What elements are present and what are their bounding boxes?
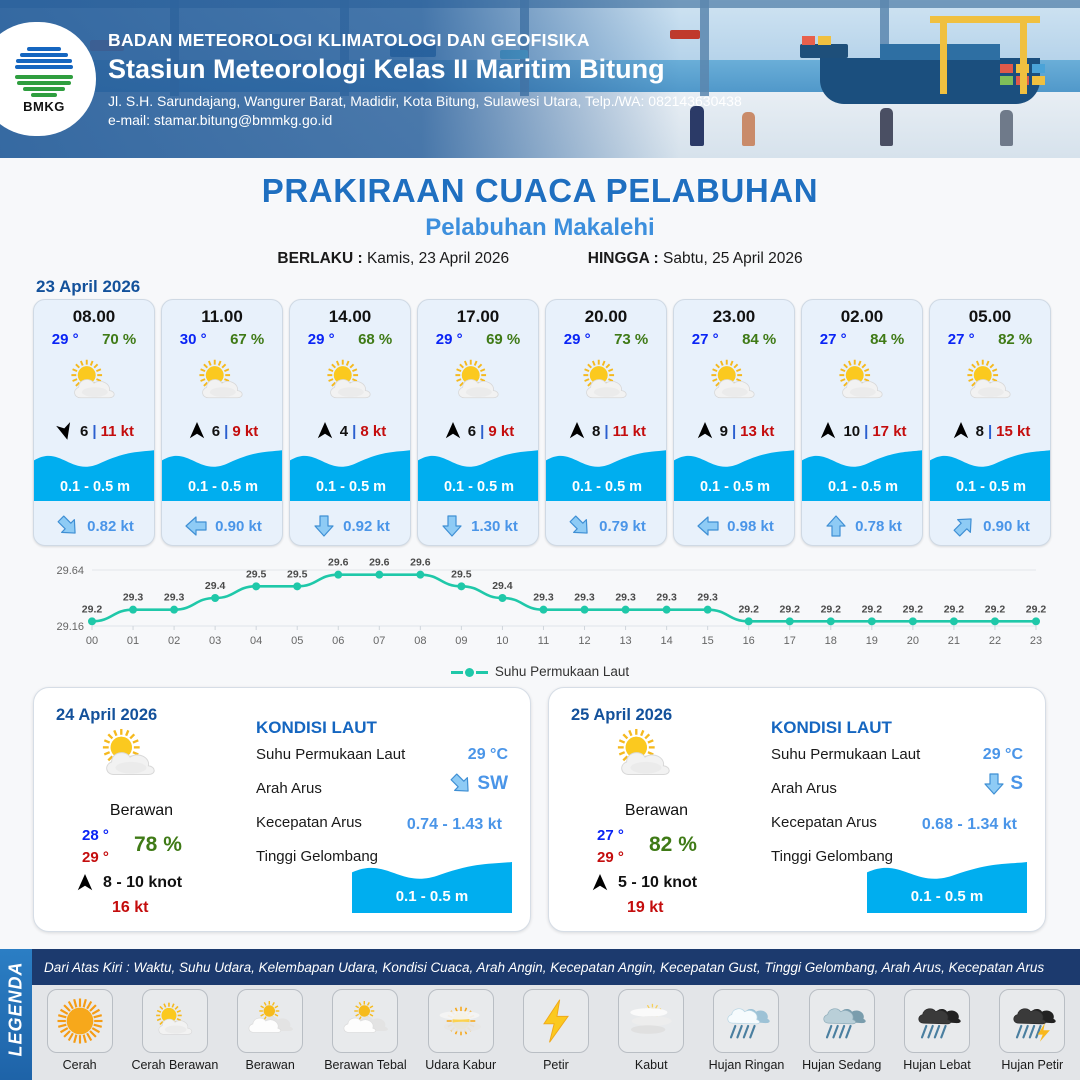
light-rain-icon xyxy=(721,1000,771,1042)
legend-item-label: Hujan Petir xyxy=(1001,1058,1063,1072)
panel-condition: Berawan xyxy=(34,802,249,820)
card-wind-row: 4 | 8 kt xyxy=(290,420,410,442)
forecast-card: 20.00 29 ° 73 % 8 | 11 kt 0.1 - 0.5 m xyxy=(545,299,667,546)
panel-date: 25 April 2026 xyxy=(571,706,672,725)
legend-item-label: Kabut xyxy=(635,1058,668,1072)
page-title: PRAKIRAAN CUACA PELABUHAN xyxy=(0,172,1080,210)
card-current-speed: 0.82 kt xyxy=(87,518,134,535)
legend-item: Cerah xyxy=(34,989,126,1072)
card-separator: | xyxy=(480,423,484,440)
card-wind-row: 8 | 15 kt xyxy=(930,420,1050,442)
forecast-date-label: 23 April 2026 xyxy=(36,277,140,297)
wind-direction-arrow-icon xyxy=(819,420,837,442)
legend-item-label: Udara Kabur xyxy=(425,1058,496,1072)
panel-sst-value: 29 °C xyxy=(468,746,508,764)
svg-text:29.2: 29.2 xyxy=(780,603,801,615)
card-wave-height: 0.1 - 0.5 m xyxy=(674,479,795,495)
svg-text:21: 21 xyxy=(948,635,960,647)
card-wave-height: 0.1 - 0.5 m xyxy=(802,479,923,495)
bmkg-logo-text: BMKG xyxy=(23,99,65,114)
card-current-speed: 0.98 kt xyxy=(727,518,774,535)
card-wind-speed: 10 xyxy=(843,423,860,440)
card-wave-block: 0.1 - 0.5 m xyxy=(162,443,283,501)
card-humidity: 84 % xyxy=(742,331,776,348)
legend-note-bar: Dari Atas Kiri : Waktu, Suhu Udara, Kele… xyxy=(32,949,1080,985)
chart-legend: Suhu Permukaan Laut xyxy=(0,664,1080,679)
wind-direction-arrow-icon xyxy=(444,420,462,442)
card-wind-speed: 8 xyxy=(976,423,984,440)
wind-direction-arrow-icon xyxy=(188,420,206,442)
panel-gust: 19 kt xyxy=(627,899,663,917)
legend-item-label: Cerah xyxy=(63,1058,97,1072)
page-header: BMKG BADAN METEOROLOGI KLIMATOLOGI DAN G… xyxy=(0,0,1080,158)
legend-icon-box xyxy=(523,989,589,1053)
card-wind-speed: 8 xyxy=(592,423,600,440)
station-address: Jl. S.H. Sarundajang, Wangurer Barat, Ma… xyxy=(108,93,742,109)
valid-from-value: Kamis, 23 April 2026 xyxy=(367,250,509,267)
legend-item: Kabut xyxy=(605,989,697,1072)
panel-weather-icon xyxy=(609,728,681,789)
panel-sea-heading: KONDISI LAUT xyxy=(771,718,892,738)
wind-direction-arrow-icon xyxy=(568,420,586,442)
svg-text:00: 00 xyxy=(86,635,98,647)
forecast-card: 08.00 29 ° 70 % 6 | 11 kt 0.1 - 0.5 m xyxy=(33,299,155,546)
sun-icon xyxy=(55,996,105,1046)
card-humidity: 82 % xyxy=(998,331,1032,348)
svg-text:29.2: 29.2 xyxy=(738,603,759,615)
thunderstorm-icon xyxy=(1007,1000,1057,1042)
legend-note: Dari Atas Kiri : Waktu, Suhu Udara, Kele… xyxy=(32,960,1044,975)
panel-current-dir: SW xyxy=(449,772,508,796)
svg-text:19: 19 xyxy=(866,635,878,647)
sun-cloud-icon xyxy=(192,359,252,406)
card-current-row: 0.82 kt xyxy=(34,514,155,538)
card-weather-icon xyxy=(546,350,666,414)
current-direction-arrow-icon xyxy=(440,514,464,538)
svg-text:14: 14 xyxy=(660,635,672,647)
card-gust: 15 kt xyxy=(996,423,1030,440)
lightning-icon xyxy=(531,996,581,1046)
panel-wind-row: 8 - 10 knot xyxy=(74,874,182,892)
wind-direction-arrow-icon xyxy=(952,420,970,442)
card-gust: 17 kt xyxy=(872,423,906,440)
card-gust: 11 kt xyxy=(613,423,646,440)
svg-text:07: 07 xyxy=(373,635,385,647)
legend-icon-box xyxy=(999,989,1065,1053)
card-time: 08.00 xyxy=(34,307,154,327)
legend-item: Udara Kabur xyxy=(415,989,507,1072)
legend-icon-box xyxy=(237,989,303,1053)
svg-text:29.2: 29.2 xyxy=(821,603,842,615)
legend-item-label: Hujan Sedang xyxy=(802,1058,881,1072)
card-current-row: 0.90 kt xyxy=(162,514,283,538)
chart-legend-label: Suhu Permukaan Laut xyxy=(495,664,629,679)
panel-temp-max: 29 ° xyxy=(82,849,109,866)
card-wave-block: 0.1 - 0.5 m xyxy=(546,443,667,501)
legend-items: Cerah Cerah Berawan Berawan Berawan Teba… xyxy=(32,985,1080,1080)
panel-label-current-speed: Kecepatan Arus xyxy=(256,814,362,831)
card-temperature: 29 ° xyxy=(308,331,335,348)
legend-item: Berawan Tebal xyxy=(319,989,411,1072)
panel-current-dir-text: S xyxy=(1010,773,1023,795)
forecast-card-row: 08.00 29 ° 70 % 6 | 11 kt 0.1 - 0.5 m xyxy=(33,299,1051,546)
panel-wave-block: 0.1 - 0.5 m xyxy=(867,855,1027,913)
panel-sst-value: 29 °C xyxy=(983,746,1023,764)
current-direction-arrow-icon xyxy=(563,509,597,543)
card-weather-icon xyxy=(418,350,538,414)
svg-text:29.3: 29.3 xyxy=(656,592,677,604)
card-gust: 9 kt xyxy=(232,423,258,440)
card-gust: 9 kt xyxy=(488,423,514,440)
svg-text:29.2: 29.2 xyxy=(82,603,103,615)
card-temperature: 27 ° xyxy=(820,331,847,348)
svg-text:29.3: 29.3 xyxy=(574,592,595,604)
svg-text:29.5: 29.5 xyxy=(451,568,472,580)
panel-wind: 8 - 10 knot xyxy=(103,874,182,892)
panel-temp-min: 28 ° xyxy=(82,827,109,844)
svg-text:22: 22 xyxy=(989,635,1001,647)
card-time: 20.00 xyxy=(546,307,666,327)
legend-marker-icon xyxy=(465,668,474,677)
panel-humidity: 82 % xyxy=(649,833,697,857)
card-wave-height: 0.1 - 0.5 m xyxy=(34,479,155,495)
sun-cloud-icon xyxy=(94,728,166,784)
legend-icon-box xyxy=(713,989,779,1053)
validity-row: BERLAKU : Kamis, 23 April 2026 HINGGA : … xyxy=(0,250,1080,268)
panel-weather-icon xyxy=(94,728,166,789)
card-current-speed: 1.30 kt xyxy=(471,518,518,535)
day-panel: 25 April 2026 Berawan 27 ° 29 ° 82 % 5 -… xyxy=(548,687,1046,932)
panel-humidity: 78 % xyxy=(134,833,182,857)
card-time: 17.00 xyxy=(418,307,538,327)
svg-text:23: 23 xyxy=(1030,635,1042,647)
sun-cloud-icon xyxy=(150,1002,200,1041)
card-separator: | xyxy=(352,423,356,440)
current-direction-arrow-icon xyxy=(444,767,478,801)
legend-icon-box xyxy=(47,989,113,1053)
sun-cloud-icon xyxy=(609,728,681,784)
page-subtitle: Pelabuhan Makalehi xyxy=(0,214,1080,242)
svg-text:29.4: 29.4 xyxy=(492,580,513,592)
panel-label-current-dir: Arah Arus xyxy=(256,780,322,797)
svg-text:08: 08 xyxy=(414,635,426,647)
panel-current-dir-text: SW xyxy=(477,773,508,795)
panel-label-current-speed: Kecepatan Arus xyxy=(771,814,877,831)
card-separator: | xyxy=(92,423,96,440)
forecast-card: 17.00 29 ° 69 % 6 | 9 kt 0.1 - 0.5 m 1 xyxy=(417,299,539,546)
card-current-row: 0.78 kt xyxy=(802,514,923,538)
legend-icon-box xyxy=(618,989,684,1053)
forecast-card: 05.00 27 ° 82 % 8 | 15 kt 0.1 - 0.5 m xyxy=(929,299,1051,546)
legend-item: Cerah Berawan xyxy=(129,989,221,1072)
forecast-card: 02.00 27 ° 84 % 10 | 17 kt 0.1 - 0.5 m xyxy=(801,299,923,546)
svg-text:29.5: 29.5 xyxy=(246,568,267,580)
card-current-row: 0.92 kt xyxy=(290,514,411,538)
card-current-speed: 0.92 kt xyxy=(343,518,390,535)
legend-side-label: LEGENDA xyxy=(6,963,27,1057)
current-direction-arrow-icon xyxy=(824,514,848,538)
wind-direction-arrow-icon xyxy=(53,418,76,444)
svg-text:29.3: 29.3 xyxy=(615,592,636,604)
panel-current-speed: 0.74 - 1.43 kt xyxy=(407,816,502,834)
current-direction-arrow-icon xyxy=(696,514,720,538)
legend-item: Berawan xyxy=(224,989,316,1072)
bmkg-logo-mark xyxy=(14,45,74,97)
svg-text:01: 01 xyxy=(127,635,139,647)
card-wave-height: 0.1 - 0.5 m xyxy=(290,479,411,495)
current-direction-arrow-icon xyxy=(312,514,336,538)
svg-text:04: 04 xyxy=(250,635,262,647)
forecast-card: 11.00 30 ° 67 % 6 | 9 kt 0.1 - 0.5 m 0 xyxy=(161,299,283,546)
card-wind-speed: 6 xyxy=(468,423,476,440)
card-wind-row: 8 | 11 kt xyxy=(546,420,666,442)
card-temperature: 29 ° xyxy=(52,331,79,348)
panel-wind-row: 5 - 10 knot xyxy=(589,874,697,892)
panel-date: 24 April 2026 xyxy=(56,706,157,725)
card-wave-height: 0.1 - 0.5 m xyxy=(930,479,1051,495)
svg-text:09: 09 xyxy=(455,635,467,647)
legend-item: Hujan Ringan xyxy=(700,989,792,1072)
card-gust: 13 kt xyxy=(740,423,774,440)
current-direction-arrow-icon xyxy=(947,509,981,543)
card-weather-icon xyxy=(290,350,410,414)
panel-sea-heading: KONDISI LAUT xyxy=(256,718,377,738)
svg-text:29.3: 29.3 xyxy=(123,592,144,604)
card-humidity: 68 % xyxy=(358,331,392,348)
card-humidity: 73 % xyxy=(614,331,648,348)
panel-current-dir: S xyxy=(982,772,1023,796)
svg-text:29.4: 29.4 xyxy=(205,580,226,592)
card-wave-height: 0.1 - 0.5 m xyxy=(162,479,283,495)
card-current-row: 0.79 kt xyxy=(546,514,667,538)
card-temperature: 29 ° xyxy=(436,331,463,348)
svg-text:29.3: 29.3 xyxy=(697,592,718,604)
svg-text:29.6: 29.6 xyxy=(328,557,349,569)
panel-label-sst: Suhu Permukaan Laut xyxy=(771,746,920,763)
valid-until-label: HINGGA : xyxy=(588,250,659,267)
svg-text:20: 20 xyxy=(907,635,919,647)
svg-text:29.5: 29.5 xyxy=(287,568,308,580)
sun-cloud-icon xyxy=(320,359,380,406)
card-humidity: 67 % xyxy=(230,331,264,348)
panel-wind: 5 - 10 knot xyxy=(618,874,697,892)
card-current-speed: 0.90 kt xyxy=(215,518,262,535)
legend-item: Hujan Lebat xyxy=(891,989,983,1072)
sun-cloud-icon xyxy=(832,359,892,406)
card-time: 14.00 xyxy=(290,307,410,327)
card-time: 23.00 xyxy=(674,307,794,327)
svg-text:29.2: 29.2 xyxy=(1026,603,1047,615)
legend-icon-box xyxy=(809,989,875,1053)
panel-wave-height: 0.1 - 0.5 m xyxy=(352,888,512,905)
card-weather-icon xyxy=(930,350,1050,414)
panel-gust: 16 kt xyxy=(112,899,148,917)
legend-icon-box xyxy=(904,989,970,1053)
fog-icon xyxy=(626,1001,676,1041)
card-wind-speed: 6 xyxy=(80,423,88,440)
panel-label-sst: Suhu Permukaan Laut xyxy=(256,746,405,763)
legend-icon-box xyxy=(428,989,494,1053)
card-current-row: 1.30 kt xyxy=(418,514,539,538)
card-current-row: 0.90 kt xyxy=(930,514,1051,538)
wind-direction-arrow-icon xyxy=(316,420,334,442)
svg-text:17: 17 xyxy=(784,635,796,647)
clouds-icon xyxy=(245,1001,295,1041)
card-temperature: 30 ° xyxy=(180,331,207,348)
panel-condition: Berawan xyxy=(549,802,764,820)
card-weather-icon xyxy=(674,350,794,414)
card-wave-block: 0.1 - 0.5 m xyxy=(802,443,923,501)
forecast-card: 23.00 27 ° 84 % 9 | 13 kt 0.1 - 0.5 m xyxy=(673,299,795,546)
card-separator: | xyxy=(224,423,228,440)
card-current-row: 0.98 kt xyxy=(674,514,795,538)
card-wave-block: 0.1 - 0.5 m xyxy=(290,443,411,501)
legend-item: Hujan Sedang xyxy=(796,989,888,1072)
card-wind-speed: 9 xyxy=(720,423,728,440)
legend-item: Hujan Petir xyxy=(986,989,1078,1072)
card-separator: | xyxy=(864,423,868,440)
card-wind-row: 6 | 11 kt xyxy=(34,420,154,442)
card-time: 02.00 xyxy=(802,307,922,327)
current-direction-arrow-icon xyxy=(184,514,208,538)
svg-text:15: 15 xyxy=(702,635,714,647)
haze-icon xyxy=(436,1001,486,1041)
day-panel: 24 April 2026 Berawan 28 ° 29 ° 78 % 8 -… xyxy=(33,687,531,932)
card-weather-icon xyxy=(162,350,282,414)
card-gust: 8 kt xyxy=(360,423,386,440)
card-wind-row: 6 | 9 kt xyxy=(418,420,538,442)
panel-wave-block: 0.1 - 0.5 m xyxy=(352,855,512,913)
card-weather-icon xyxy=(802,350,922,414)
card-wind-row: 9 | 13 kt xyxy=(674,420,794,442)
current-direction-arrow-icon xyxy=(982,772,1006,796)
card-humidity: 70 % xyxy=(102,331,136,348)
legend-item-label: Hujan Ringan xyxy=(709,1058,785,1072)
legend-icon-box xyxy=(142,989,208,1053)
card-separator: | xyxy=(732,423,736,440)
legend-section: LEGENDA Dari Atas Kiri : Waktu, Suhu Uda… xyxy=(0,949,1080,1080)
card-humidity: 84 % xyxy=(870,331,904,348)
sst-chart: 29.6429.1629.20029.30129.30229.40329.504… xyxy=(30,556,1050,678)
card-temperature: 27 ° xyxy=(948,331,975,348)
card-temperature: 29 ° xyxy=(564,331,591,348)
valid-until-value: Sabtu, 25 April 2026 xyxy=(663,250,803,267)
legend-icon-box xyxy=(332,989,398,1053)
svg-text:29.64: 29.64 xyxy=(56,565,84,577)
card-wave-height: 0.1 - 0.5 m xyxy=(418,479,539,495)
legend-item-label: Hujan Lebat xyxy=(903,1058,970,1072)
card-wind-speed: 4 xyxy=(340,423,348,440)
svg-text:29.16: 29.16 xyxy=(56,621,84,633)
agency-name: BADAN METEOROLOGI KLIMATOLOGI DAN GEOFIS… xyxy=(108,30,742,51)
svg-text:05: 05 xyxy=(291,635,303,647)
sun-cloud-icon xyxy=(576,359,636,406)
svg-text:29.3: 29.3 xyxy=(533,592,554,604)
sun-cloud-icon xyxy=(448,359,508,406)
card-time: 11.00 xyxy=(162,307,282,327)
sun-cloud-icon xyxy=(64,359,124,406)
svg-text:29.3: 29.3 xyxy=(164,592,185,604)
card-wave-block: 0.1 - 0.5 m xyxy=(674,443,795,501)
svg-text:29.2: 29.2 xyxy=(985,603,1006,615)
card-wave-block: 0.1 - 0.5 m xyxy=(418,443,539,501)
svg-text:29.2: 29.2 xyxy=(862,603,883,615)
svg-text:10: 10 xyxy=(496,635,508,647)
legend-item-label: Petir xyxy=(543,1058,569,1072)
card-wave-block: 0.1 - 0.5 m xyxy=(34,443,155,501)
panel-label-current-dir: Arah Arus xyxy=(771,780,837,797)
wind-direction-arrow-icon xyxy=(591,872,609,894)
panel-wave-height: 0.1 - 0.5 m xyxy=(867,888,1027,905)
station-email: e-mail: stamar.bitung@bmmkg.go.id xyxy=(108,112,742,128)
heavy-rain-icon xyxy=(912,1000,962,1042)
card-wind-row: 6 | 9 kt xyxy=(162,420,282,442)
svg-text:13: 13 xyxy=(619,635,631,647)
card-wave-block: 0.1 - 0.5 m xyxy=(930,443,1051,501)
svg-text:29.6: 29.6 xyxy=(410,557,431,569)
thick-clouds-icon xyxy=(340,1001,390,1041)
card-temperature: 27 ° xyxy=(692,331,719,348)
station-name: Stasiun Meteorologi Kelas II Maritim Bit… xyxy=(108,54,742,85)
legend-item-label: Berawan Tebal xyxy=(324,1058,406,1072)
sun-cloud-icon xyxy=(960,359,1020,406)
panel-current-speed: 0.68 - 1.34 kt xyxy=(922,816,1017,834)
legend-item: Petir xyxy=(510,989,602,1072)
legend-item-label: Berawan xyxy=(245,1058,294,1072)
legend-side-bar: LEGENDA xyxy=(0,949,32,1080)
card-time: 05.00 xyxy=(930,307,1050,327)
forecast-card: 14.00 29 ° 68 % 4 | 8 kt 0.1 - 0.5 m 0 xyxy=(289,299,411,546)
wind-direction-arrow-icon xyxy=(76,872,94,894)
card-humidity: 69 % xyxy=(486,331,520,348)
svg-text:12: 12 xyxy=(578,635,590,647)
card-current-speed: 0.79 kt xyxy=(599,518,646,535)
svg-text:16: 16 xyxy=(743,635,755,647)
valid-from-label: BERLAKU : xyxy=(277,250,362,267)
sun-cloud-icon xyxy=(704,359,764,406)
card-wave-height: 0.1 - 0.5 m xyxy=(546,479,667,495)
svg-text:11: 11 xyxy=(538,635,549,647)
card-wind-speed: 6 xyxy=(212,423,220,440)
svg-text:18: 18 xyxy=(825,635,837,647)
card-gust: 11 kt xyxy=(101,423,134,440)
svg-text:29.6: 29.6 xyxy=(369,557,390,569)
panel-temp-max: 29 ° xyxy=(597,849,624,866)
current-direction-arrow-icon xyxy=(51,509,85,543)
svg-text:29.2: 29.2 xyxy=(944,603,965,615)
card-separator: | xyxy=(988,423,992,440)
svg-text:03: 03 xyxy=(209,635,221,647)
moderate-rain-icon xyxy=(817,1000,867,1042)
legend-item-label: Cerah Berawan xyxy=(131,1058,218,1072)
svg-text:02: 02 xyxy=(168,635,180,647)
card-wind-row: 10 | 17 kt xyxy=(802,420,922,442)
panel-temp-min: 27 ° xyxy=(597,827,624,844)
card-current-speed: 0.78 kt xyxy=(855,518,902,535)
wind-direction-arrow-icon xyxy=(696,420,714,442)
svg-text:06: 06 xyxy=(332,635,344,647)
card-separator: | xyxy=(604,423,608,440)
card-weather-icon xyxy=(34,350,154,414)
svg-text:29.2: 29.2 xyxy=(903,603,924,615)
card-current-speed: 0.90 kt xyxy=(983,518,1030,535)
